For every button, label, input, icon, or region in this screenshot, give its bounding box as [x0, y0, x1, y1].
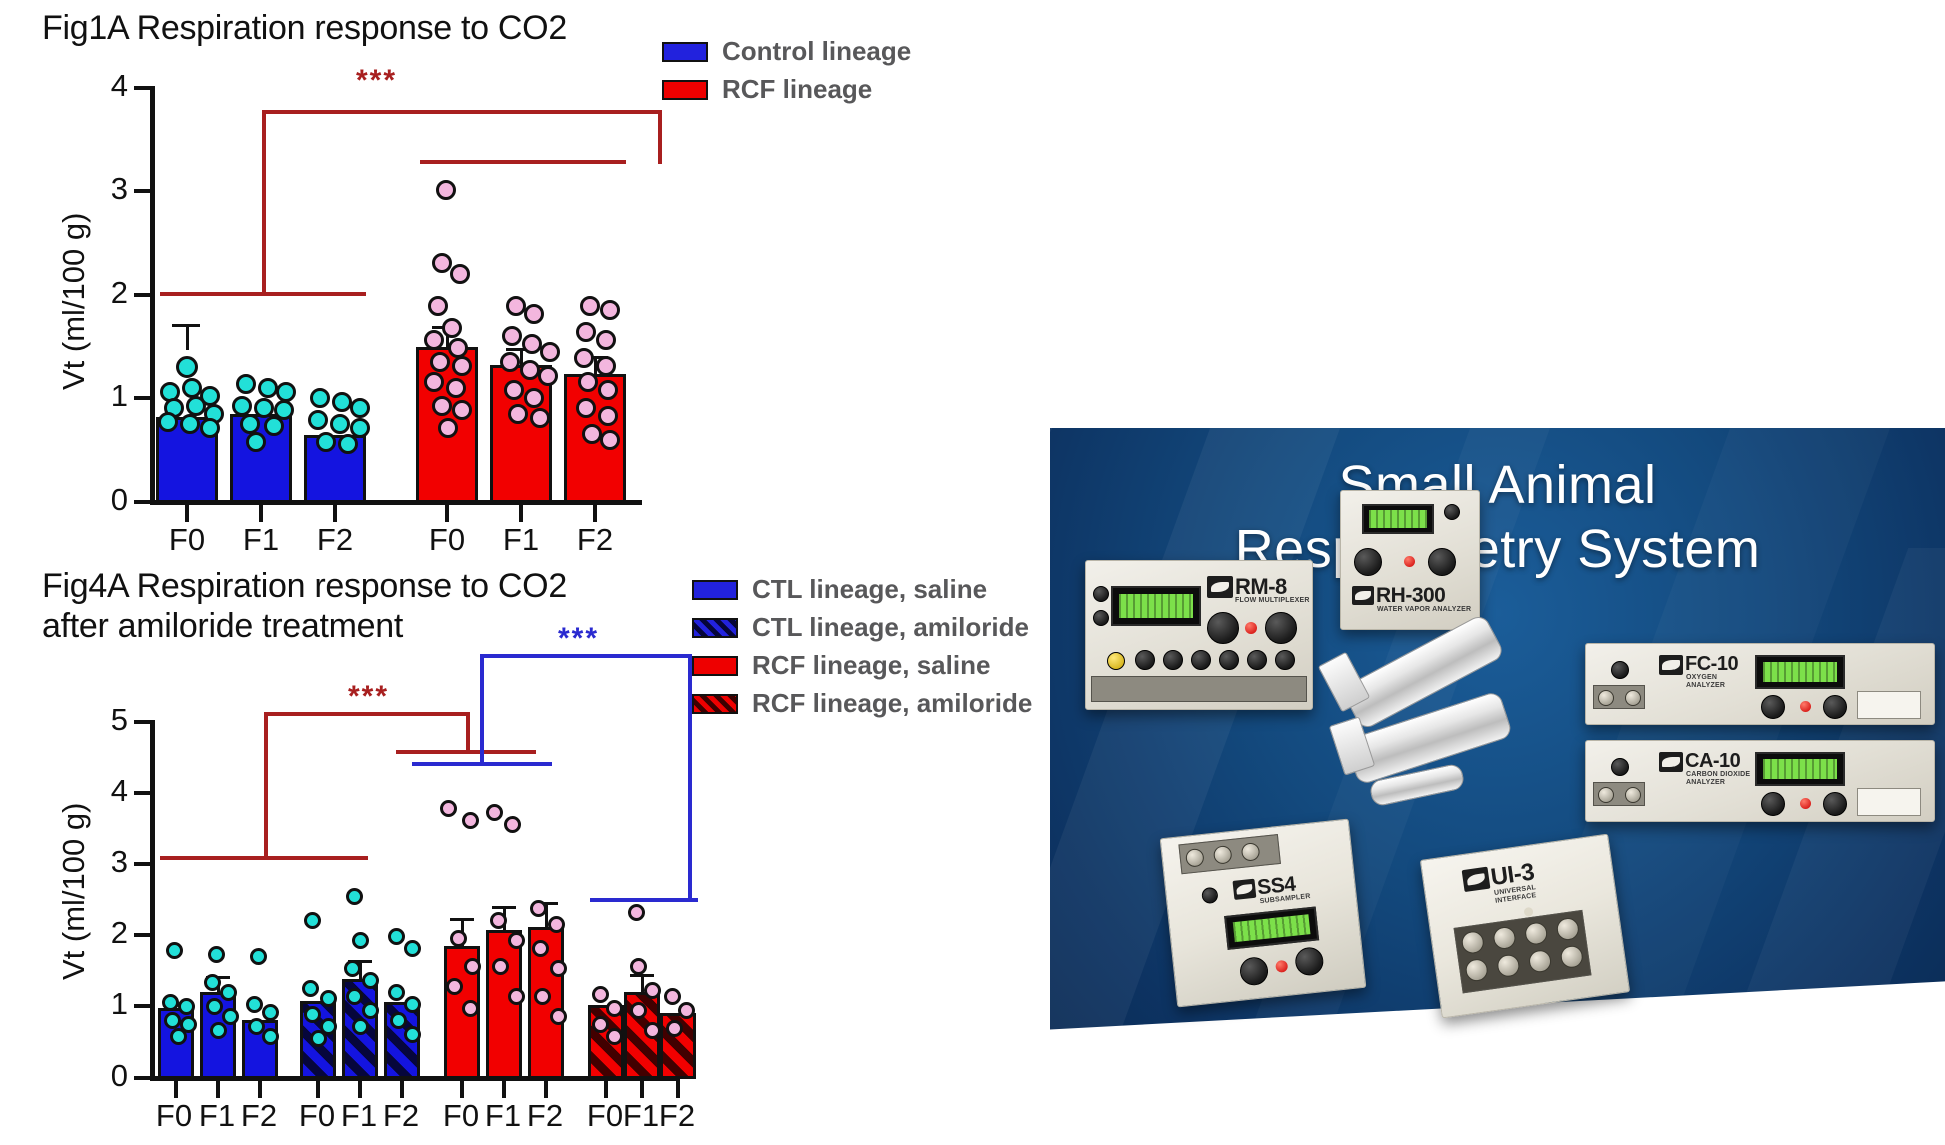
data-point — [582, 424, 602, 444]
bracket-left-base — [412, 762, 552, 766]
y-tick — [134, 500, 150, 504]
device-model-label: FC-10 — [1685, 653, 1738, 676]
y-tick-label: 0 — [82, 1058, 128, 1094]
data-point — [232, 396, 252, 416]
y-tick-label: 1 — [82, 378, 128, 414]
data-point — [600, 300, 620, 320]
device-knob — [1093, 586, 1109, 602]
y-tick — [134, 862, 150, 866]
data-point — [436, 180, 456, 200]
figure-4a-y-axis-label: Vt (ml/100 g) — [56, 803, 92, 980]
device-display — [1755, 752, 1845, 786]
device-subtitle: WATER VAPOR ANALYZER — [1377, 606, 1471, 614]
device-rh-300: RH-300 WATER VAPOR ANALYZER — [1340, 490, 1480, 630]
data-point — [606, 1000, 623, 1017]
x-tick — [676, 1081, 680, 1098]
data-point — [492, 958, 509, 975]
data-point — [446, 978, 463, 995]
data-point — [644, 1022, 661, 1039]
data-point — [630, 1002, 647, 1019]
brand-logo — [1207, 576, 1233, 598]
device-ss4: SS4 SUBSAMPLER — [1160, 819, 1367, 1008]
data-point — [176, 356, 198, 378]
data-point — [490, 912, 507, 929]
device-knob — [1207, 612, 1239, 644]
device-spec-plate — [1857, 788, 1921, 816]
data-point — [504, 816, 521, 833]
y-tick-label: 3 — [82, 844, 128, 880]
device-toggle-switch — [1444, 504, 1460, 520]
y-tick-label: 2 — [82, 915, 128, 951]
data-point — [432, 253, 452, 273]
device-port — [1625, 690, 1641, 706]
data-point — [262, 1028, 279, 1045]
significance-stars: *** — [356, 66, 397, 96]
device-power-button — [1611, 758, 1629, 776]
device-port-strip — [1091, 676, 1307, 702]
device-led — [1245, 622, 1257, 634]
data-point — [596, 356, 616, 376]
data-point — [628, 904, 645, 921]
data-point — [352, 1018, 369, 1035]
data-point — [330, 414, 350, 434]
x-tick-label: F1 — [226, 522, 296, 558]
data-point — [424, 372, 444, 392]
data-point — [524, 388, 544, 408]
data-point — [404, 940, 421, 957]
data-point — [250, 948, 267, 965]
device-knob — [1823, 695, 1847, 719]
device-rm-8: RM-8 FLOW MULTIPLEXER — [1085, 560, 1313, 710]
data-point — [452, 356, 472, 376]
bracket-right-base — [396, 750, 536, 754]
data-point — [388, 984, 405, 1001]
data-point — [158, 412, 178, 432]
device-knob — [1275, 650, 1295, 670]
device-port — [1598, 690, 1614, 706]
data-point — [310, 388, 330, 408]
data-point — [246, 996, 263, 1013]
data-point — [264, 416, 284, 436]
y-tick — [134, 933, 150, 937]
data-point — [362, 972, 379, 989]
brand-logo — [1352, 586, 1374, 605]
data-point — [210, 1022, 227, 1039]
data-point — [220, 984, 237, 1001]
x-tick — [445, 505, 449, 522]
display-readout — [1763, 759, 1837, 779]
device-knob — [1107, 652, 1125, 670]
data-point — [508, 988, 525, 1005]
x-tick — [185, 505, 189, 522]
y-tick — [134, 293, 150, 297]
x-tick — [502, 1081, 506, 1098]
error-bar-cap — [492, 906, 516, 909]
device-port — [1625, 787, 1641, 803]
bracket-left-arm — [262, 110, 266, 296]
data-point — [240, 414, 260, 434]
x-tick-label: F2 — [517, 1098, 573, 1134]
data-point — [592, 1016, 609, 1033]
data-point — [302, 980, 319, 997]
data-point — [600, 430, 620, 450]
data-point — [502, 326, 522, 346]
bracket-right-arm — [688, 654, 692, 902]
y-tick-label: 4 — [82, 773, 128, 809]
data-point — [186, 396, 206, 416]
y-tick — [134, 720, 150, 724]
bracket-left-base — [160, 856, 368, 860]
x-tick — [544, 1081, 548, 1098]
figure-1a-y-axis — [150, 86, 155, 504]
x-tick — [604, 1081, 608, 1098]
data-point — [666, 1020, 683, 1037]
device-display — [1362, 504, 1434, 534]
data-point — [338, 434, 358, 454]
data-point — [448, 338, 468, 358]
data-point — [182, 378, 202, 398]
data-point — [304, 912, 321, 929]
data-point — [170, 1028, 187, 1045]
data-point — [352, 932, 369, 949]
bracket-right-base — [420, 160, 626, 164]
device-knob — [1761, 792, 1785, 816]
device-knob — [1428, 548, 1456, 576]
device-led — [1404, 556, 1415, 567]
data-point — [596, 330, 616, 350]
data-point — [534, 988, 551, 1005]
device-subtitle: FLOW MULTIPLEXER — [1235, 597, 1310, 605]
x-tick-label: F0 — [412, 522, 482, 558]
data-point — [550, 1008, 567, 1025]
data-point — [598, 406, 618, 426]
data-point — [222, 1008, 239, 1025]
data-point — [308, 410, 328, 430]
data-point — [430, 352, 450, 372]
x-tick — [593, 505, 597, 522]
data-point — [388, 928, 405, 945]
x-tick-label: F0 — [152, 522, 222, 558]
data-point — [208, 946, 225, 963]
data-point — [532, 940, 549, 957]
data-point — [644, 982, 661, 999]
data-point — [346, 988, 363, 1005]
data-point — [204, 974, 221, 991]
device-ca-10: CA-10 CARBON DIOXIDE ANALYZER — [1585, 740, 1935, 822]
data-point — [520, 360, 540, 380]
device-model-label: CA-10 — [1685, 750, 1740, 773]
data-point — [390, 1012, 407, 1029]
device-fc-10: FC-10 OXYGEN ANALYZER — [1585, 643, 1935, 725]
respirometry-system-photo: Small Animal Respirometry System RM-8 FL… — [1050, 428, 1945, 1088]
device-ui-3: UI-3 UNIVERSAL INTERFACE — [1420, 834, 1630, 1019]
bracket-left-base — [160, 292, 366, 296]
data-point — [310, 1030, 327, 1047]
brand-logo — [1659, 655, 1683, 675]
x-tick-label: F2 — [373, 1098, 429, 1134]
bracket-top — [262, 110, 662, 114]
data-point — [346, 888, 363, 905]
data-point — [486, 804, 503, 821]
data-point — [442, 318, 462, 338]
bracket-right-base — [590, 898, 698, 902]
y-tick — [134, 1076, 150, 1080]
data-point — [464, 958, 481, 975]
device-knob — [1163, 650, 1183, 670]
x-tick-label: F2 — [649, 1098, 705, 1134]
significance-stars: *** — [348, 682, 389, 712]
data-point — [522, 334, 542, 354]
data-point — [592, 986, 609, 1003]
x-tick-label: F2 — [560, 522, 630, 558]
device-display — [1755, 655, 1845, 689]
data-point — [550, 960, 567, 977]
data-point — [424, 330, 444, 350]
display-readout — [1369, 510, 1427, 527]
data-point — [404, 996, 421, 1013]
data-point — [462, 812, 479, 829]
device-power-button — [1611, 661, 1629, 679]
data-point — [538, 366, 558, 386]
y-tick — [134, 791, 150, 795]
data-point — [316, 432, 336, 452]
x-tick-label: F2 — [300, 522, 370, 558]
data-point — [362, 1002, 379, 1019]
bracket-right-arm — [466, 712, 470, 754]
data-point — [530, 408, 550, 428]
data-point — [446, 378, 466, 398]
x-tick — [400, 1081, 404, 1098]
device-knob — [1823, 792, 1847, 816]
display-readout — [1233, 914, 1310, 942]
x-tick — [460, 1081, 464, 1098]
bracket-right-arm — [658, 110, 662, 164]
device-subtitle: CARBON DIOXIDE ANALYZER — [1686, 771, 1750, 786]
brand-logo — [1659, 752, 1683, 772]
data-point — [438, 418, 458, 438]
x-tick — [259, 505, 263, 522]
data-point — [524, 304, 544, 324]
data-point — [164, 1012, 181, 1029]
data-point — [576, 322, 596, 342]
device-knob — [1354, 548, 1382, 576]
data-point — [548, 916, 565, 933]
data-point — [580, 296, 600, 316]
x-tick-label: F1 — [486, 522, 556, 558]
device-led — [1800, 701, 1811, 712]
data-point — [664, 988, 681, 1005]
error-bar — [186, 324, 189, 350]
significance-stars: *** — [558, 624, 599, 654]
x-tick-label: F2 — [231, 1098, 287, 1134]
bracket-left-arm — [480, 654, 484, 766]
data-point — [540, 342, 560, 362]
figure-4a-panel: Fig4A Respiration response to CO2 after … — [0, 560, 1010, 1145]
y-tick-label: 5 — [82, 702, 128, 738]
data-point — [578, 372, 598, 392]
brand-logo — [1462, 867, 1491, 892]
device-knob — [1135, 650, 1155, 670]
device-display — [1111, 586, 1201, 626]
y-tick — [134, 86, 150, 90]
device-led — [1800, 798, 1811, 809]
data-point — [500, 352, 520, 372]
x-tick — [358, 1081, 362, 1098]
data-point — [606, 1028, 623, 1045]
data-point — [462, 1000, 479, 1017]
data-point — [506, 296, 526, 316]
data-point — [178, 998, 195, 1015]
device-subtitle: OXYGEN ANALYZER — [1686, 674, 1725, 689]
y-tick — [134, 189, 150, 193]
data-point — [258, 378, 278, 398]
data-point — [452, 400, 472, 420]
data-point — [320, 990, 337, 1007]
error-bar-cap — [450, 918, 474, 921]
data-point — [504, 380, 524, 400]
x-tick — [216, 1081, 220, 1098]
figure-1a-panel: Fig1A Respiration response to CO2 Contro… — [0, 0, 1010, 560]
y-tick-label: 3 — [82, 171, 128, 207]
device-knob — [1191, 650, 1211, 670]
bracket-left-arm — [264, 712, 268, 860]
x-tick — [258, 1081, 262, 1098]
data-point — [254, 398, 274, 418]
data-point — [200, 418, 220, 438]
x-tick — [333, 505, 337, 522]
y-tick-label: 0 — [82, 482, 128, 518]
data-point — [508, 932, 525, 949]
data-point — [332, 392, 352, 412]
y-tick — [134, 396, 150, 400]
device-knob — [1265, 612, 1297, 644]
data-point — [598, 380, 618, 400]
data-point — [576, 398, 596, 418]
data-point — [262, 1004, 279, 1021]
data-point — [162, 994, 179, 1011]
data-point — [404, 1026, 421, 1043]
display-readout — [1119, 594, 1193, 618]
y-tick-label: 2 — [82, 275, 128, 311]
error-bar-cap — [630, 974, 654, 977]
device-model-label: RH-300 — [1376, 584, 1445, 608]
data-point — [574, 348, 594, 368]
x-tick — [174, 1081, 178, 1098]
x-tick — [316, 1081, 320, 1098]
figure-4a-plot: Vt (ml/100 g) 5 4 3 2 1 0 — [0, 560, 1010, 1145]
y-tick — [134, 1004, 150, 1008]
display-readout — [1763, 662, 1837, 682]
y-tick-label: 4 — [82, 68, 128, 104]
data-point — [428, 296, 448, 316]
data-point — [246, 432, 266, 452]
data-point — [304, 1006, 321, 1023]
y-tick-label: 1 — [82, 986, 128, 1022]
data-point — [206, 998, 223, 1015]
data-point — [630, 958, 647, 975]
figure-4a-y-axis — [150, 720, 155, 1080]
data-point — [166, 942, 183, 959]
data-point — [236, 374, 256, 394]
device-spec-plate — [1857, 691, 1921, 719]
x-tick — [519, 505, 523, 522]
brand-logo — [1232, 879, 1256, 900]
data-point — [450, 264, 470, 284]
device-knob — [1093, 610, 1109, 626]
data-point — [678, 1002, 695, 1019]
data-point — [530, 900, 547, 917]
data-point — [440, 800, 457, 817]
device-knob — [1247, 650, 1267, 670]
device-knob — [1761, 695, 1785, 719]
data-point — [276, 382, 296, 402]
device-port — [1598, 787, 1614, 803]
data-point — [350, 398, 370, 418]
x-tick — [640, 1081, 644, 1098]
data-point — [180, 414, 200, 434]
figure-1a-plot: Vt (ml/100 g) 4 3 2 1 0 — [0, 0, 1010, 560]
error-bar-cap — [172, 324, 200, 327]
data-point — [432, 396, 452, 416]
device-knob — [1219, 650, 1239, 670]
data-point — [450, 930, 467, 947]
data-point — [508, 404, 528, 424]
data-point — [344, 960, 361, 977]
